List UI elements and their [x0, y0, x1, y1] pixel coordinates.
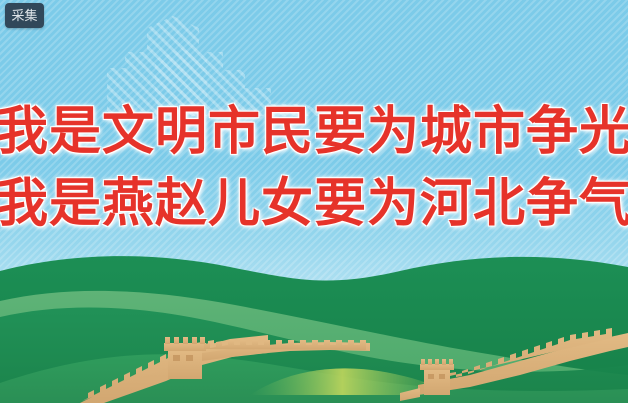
slogan-block: 我是文明市民 要为城市争光 我是燕赵儿女 要为河北争气 — [0, 96, 628, 240]
slogan-line-2: 我是燕赵儿女 要为河北争气 — [0, 168, 628, 240]
slogan-line-1-right: 要为城市争光 — [314, 96, 628, 168]
slogan-line-2-left: 我是燕赵儿女 — [0, 168, 314, 240]
landscape-hills — [0, 243, 628, 403]
poster-canvas: 我是文明市民 要为城市争光 我是燕赵儿女 要为河北争气 采集 — [0, 0, 628, 403]
slogan-line-2-right: 要为河北争气 — [314, 168, 628, 240]
slogan-line-1: 我是文明市民 要为城市争光 — [0, 96, 628, 168]
capture-button[interactable]: 采集 — [5, 3, 44, 28]
slogan-line-1-left: 我是文明市民 — [0, 96, 314, 168]
